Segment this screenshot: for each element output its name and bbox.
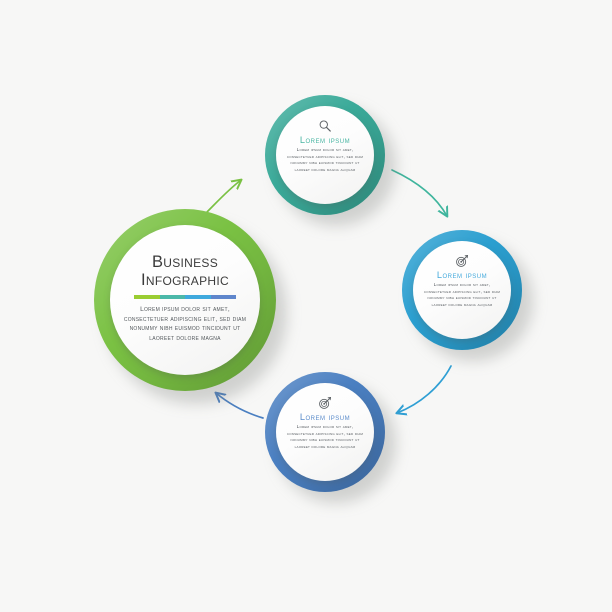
page-title-line-2: Infographic (141, 272, 229, 289)
target-arrow-icon (455, 253, 469, 269)
step-1-heading: Lorem ipsum (300, 135, 350, 145)
arrow-cyan-to-blue (397, 366, 451, 413)
step-1-circle[interactable]: Lorem ipsum Lorem ipsum dolor sit amet, … (265, 95, 385, 215)
step-3-circle[interactable]: Lorem ipsum Lorem ipsum dolor sit amet, … (265, 372, 385, 492)
main-circle-content: Business Infographic Lorem ipsum dolor s… (110, 225, 260, 375)
infographic-canvas: Business Infographic Lorem ipsum dolor s… (0, 0, 612, 612)
step-2-heading: Lorem ipsum (437, 270, 487, 280)
main-circle[interactable]: Business Infographic Lorem ipsum dolor s… (94, 209, 276, 391)
step-2-body-text: Lorem ipsum dolor sit amet, consectetuer… (422, 282, 502, 308)
step-2-content: Lorem ipsum Lorem ipsum dolor sit amet, … (413, 241, 511, 339)
page-title: Business Infographic (141, 254, 229, 288)
page-title-line-1: Business (152, 253, 218, 271)
step-3-heading: Lorem ipsum (300, 412, 350, 422)
arrow-main-to-teal (207, 180, 241, 212)
step-3-content: Lorem ipsum Lorem ipsum dolor sit amet, … (276, 383, 374, 481)
step-3-body-text: Lorem ipsum dolor sit amet, consectetuer… (285, 424, 365, 450)
step-2-circle[interactable]: Lorem ipsum Lorem ipsum dolor sit amet, … (402, 230, 522, 350)
color-divider-segment-4 (211, 295, 237, 299)
step-1-body-text: Lorem ipsum dolor sit amet, consectetuer… (285, 147, 365, 173)
main-circle-body-text: Lorem ipsum dolor sit amet, consectetuer… (123, 305, 247, 343)
color-divider-segment-3 (185, 295, 211, 299)
magnifier-icon (318, 118, 332, 134)
color-divider-bar (134, 295, 236, 299)
target-arrow-icon (318, 395, 332, 411)
color-divider-segment-1 (134, 295, 160, 299)
step-1-content: Lorem ipsum Lorem ipsum dolor sit amet, … (276, 106, 374, 204)
color-divider-segment-2 (160, 295, 186, 299)
arrow-teal-to-cyan (392, 170, 447, 216)
